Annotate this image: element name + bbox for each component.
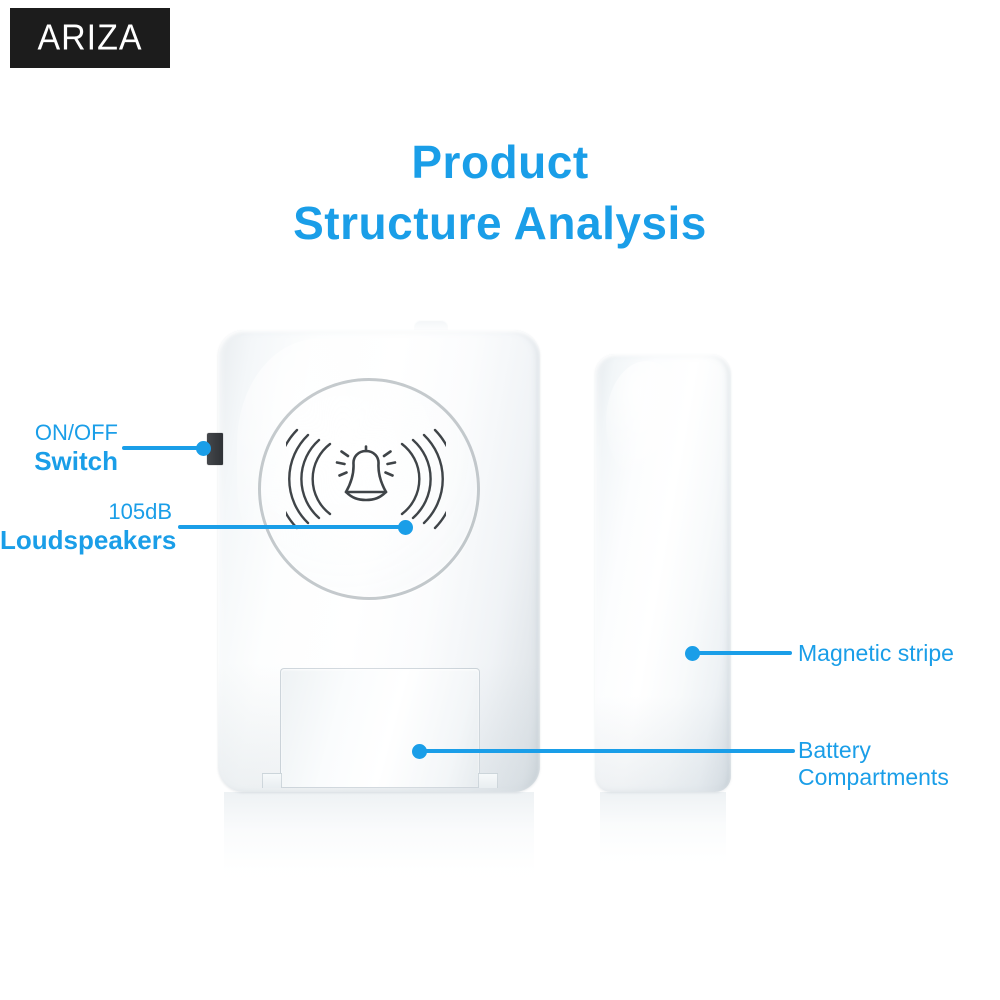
magnet-bar-unit [595,354,731,792]
callout-label-battery: Battery Compartments [798,737,949,791]
callout-battery-line-1: Battery [798,737,949,764]
battery-door-notch-right [478,773,498,788]
stripe-unit-highlight [606,361,688,484]
callout-dot-switch [196,441,211,456]
battery-compartment-door [280,668,480,788]
main-unit-reflection [224,792,534,902]
callout-switch-label: Switch [0,446,118,477]
callout-leader-line-switch [122,446,206,450]
page-title: Product Structure Analysis [0,132,1000,253]
callout-leader-line-battery [419,749,795,753]
stripe-unit-bottom-shade [595,696,731,792]
brand-logo-text: ARIZA [37,18,142,59]
callout-label-loudspeakers: 105dB Loudspeakers [0,499,172,556]
callout-dot-loudspeakers [398,520,413,535]
callout-label-switch: ON/OFF Switch [0,420,118,477]
alarm-bell-icon [286,418,446,540]
callout-loudspeakers-label: Loudspeakers [0,525,172,556]
callout-dot-magnetic-stripe [685,646,700,661]
callout-leader-line-magnetic-stripe [692,651,792,655]
stripe-unit-reflection [600,792,726,884]
page-title-line-2: Structure Analysis [0,193,1000,254]
page-title-line-1: Product [0,132,1000,193]
callout-battery-line-2: Compartments [798,764,949,791]
callout-leader-line-loudspeakers [178,525,406,529]
callout-label-magnetic-stripe: Magnetic stripe [798,640,954,667]
callout-switch-sublabel: ON/OFF [0,420,118,446]
brand-logo: ARIZA [10,8,170,68]
callout-dot-battery [412,744,427,759]
callout-loudspeakers-sublabel: 105dB [0,499,172,525]
product-structure-analysis-page: ARIZA Product Structure Analysis [0,0,1000,1000]
battery-door-notch-left [262,773,282,788]
callout-magnetic-stripe-line-1: Magnetic stripe [798,640,954,667]
